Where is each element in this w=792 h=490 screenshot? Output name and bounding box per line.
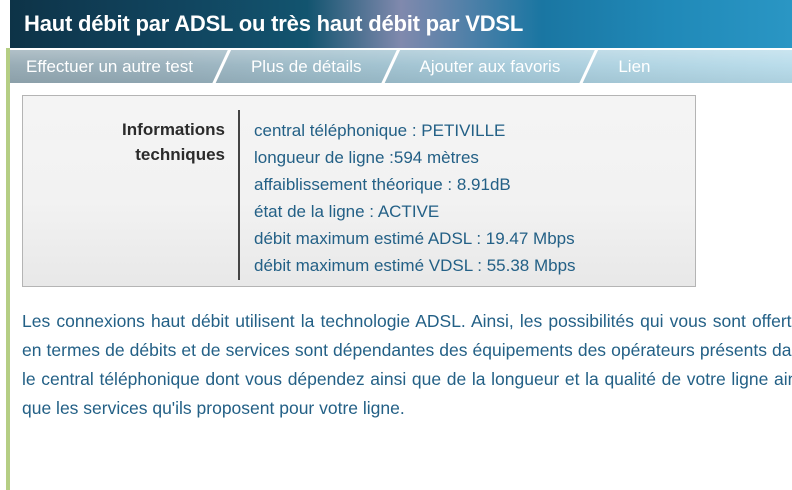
technical-information-label-line1: Informations <box>23 117 225 142</box>
nav-item-effectuer-un-autre-test[interactable]: Effectuer un autre test <box>10 50 209 83</box>
nav-item-ajouter-aux-favoris[interactable]: Ajouter aux favoris <box>404 50 577 83</box>
info-row-debit-maximum-adsl: débit maximum estimé ADSL : 19.47 Mbps <box>254 225 576 252</box>
info-row-debit-maximum-vdsl: débit maximum estimé VDSL : 55.38 Mbps <box>254 252 576 279</box>
technical-information-panel: Informations techniques central téléphon… <box>22 95 696 287</box>
technical-information-values: central téléphonique : PETIVILLE longueu… <box>240 106 576 286</box>
info-row-affaiblissement-theorique: affaiblissement théorique : 8.91dB <box>254 171 576 198</box>
left-white-margin <box>0 48 5 490</box>
navigation-bar: Effectuer un autre test Plus de détails … <box>10 50 792 83</box>
info-row-longueur-de-ligne: longueur de ligne :594 mètres <box>254 144 576 171</box>
info-row-central-telephonique: central téléphonique : PETIVILLE <box>254 117 576 144</box>
page-title-bar: Haut débit par ADSL ou très haut débit p… <box>10 0 792 48</box>
info-row-etat-de-la-ligne: état de la ligne : ACTIVE <box>254 198 576 225</box>
nav-item-plus-de-details[interactable]: Plus de détails <box>235 50 378 83</box>
description-paragraph: Les connexions haut débit utilisent la t… <box>22 307 792 423</box>
page-title: Haut débit par ADSL ou très haut débit p… <box>10 11 523 37</box>
description-text: Les connexions haut débit utilisent la t… <box>22 307 792 423</box>
technical-information-label: Informations techniques <box>23 106 238 286</box>
page-root: Haut débit par ADSL ou très haut débit p… <box>0 0 792 490</box>
nav-item-lien[interactable]: Lien <box>602 50 666 83</box>
nav-separator-slash-icon <box>378 50 404 83</box>
nav-separator-slash-icon <box>209 50 235 83</box>
left-green-accent-strip <box>6 48 10 490</box>
nav-separator-slash-icon <box>576 50 602 83</box>
technical-information-label-line2: techniques <box>23 142 225 167</box>
